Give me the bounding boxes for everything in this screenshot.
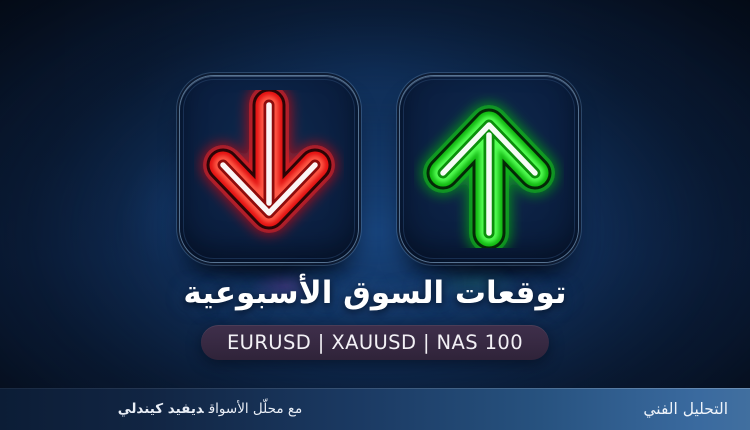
- footer-section-label: التحليل الفني: [643, 400, 728, 418]
- symbols-badge: EURUSD | XAUUSD | NAS 100: [201, 325, 549, 360]
- footer-bar: مع محلّل الأسواقديفيد كيندلي التحليل الف…: [0, 388, 750, 430]
- bullish-card[interactable]: [400, 76, 578, 262]
- arrow-cards-row: [0, 76, 750, 266]
- footer-analyst-name: ديفيد كيندلي: [118, 401, 204, 417]
- footer-analyst-credit: مع محلّل الأسواقديفيد كيندلي: [0, 401, 420, 417]
- arrow-down-icon: [180, 76, 358, 262]
- poster-canvas: توقعات السوق الأسبوعية EURUSD | XAUUSD |…: [0, 0, 750, 430]
- bearish-card[interactable]: [180, 76, 358, 262]
- arrow-up-icon: [400, 76, 578, 262]
- footer-credit-prefix: مع محلّل الأسواق: [209, 401, 303, 417]
- page-title: توقعات السوق الأسبوعية: [0, 276, 750, 312]
